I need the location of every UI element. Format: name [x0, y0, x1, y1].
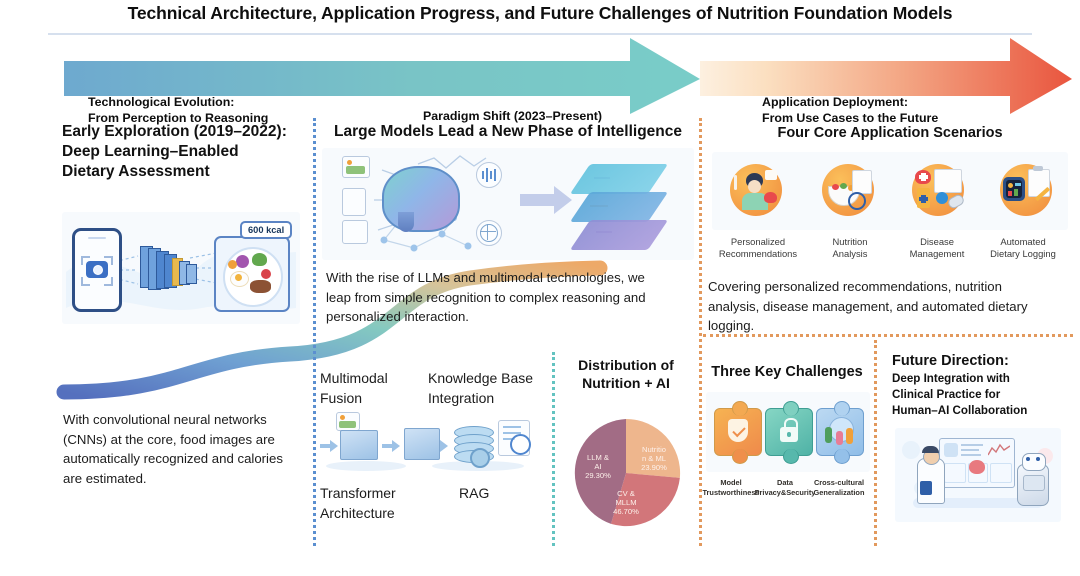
- pie-label-llm-ai: LLM & AI 29.30%: [576, 453, 620, 480]
- gear-icon: [470, 448, 490, 468]
- pie-label-nutrition-ml-l2: n & ML: [632, 454, 676, 463]
- scenario-label-4: Automated Dietary Logging: [977, 236, 1069, 260]
- challenges-heading: Three Key Challenges: [704, 363, 870, 381]
- scenario-label-2-line1: Nutrition: [804, 236, 896, 248]
- heart-icon: [969, 460, 985, 474]
- future-heading-line3: Human–AI Collaboration: [892, 403, 1072, 419]
- challenge-label-3: Cross-cultural Generalization: [796, 478, 882, 497]
- label-multimodal-fusion-line1: Multimodal: [320, 368, 425, 388]
- infographic-canvas: Technical Architecture, Application Prog…: [0, 0, 1080, 576]
- label-transformer-line1: Transformer: [320, 483, 435, 503]
- food-item-yolk: [235, 274, 242, 281]
- banner-right-label: Application Deployment: From Use Cases t…: [762, 94, 938, 126]
- page-title: Technical Architecture, Application Prog…: [0, 3, 1080, 24]
- scenario-label-3: Disease Management: [891, 236, 983, 260]
- food-plate-result-icon: [214, 236, 290, 312]
- fusion-cube-icon: [340, 430, 378, 460]
- image-input-icon: [342, 156, 370, 178]
- label-transformer-architecture: Transformer Architecture: [320, 483, 435, 523]
- challenge-label-3-line2: Generalization: [796, 488, 882, 498]
- scenarios-illustration: [712, 152, 1068, 230]
- left-heading: Early Exploration (2019–2022): Deep Lear…: [62, 122, 302, 182]
- scenario-icon-nutrition-analysis: [822, 164, 874, 216]
- middle-pipeline-illustration: [318, 410, 548, 478]
- food-item-eggplant: [236, 255, 249, 268]
- scenario-icon-automated-dietary-logging: [1000, 164, 1052, 216]
- label-transformer-line2: Architecture: [320, 503, 435, 523]
- focus-bracket-tr: [104, 256, 113, 265]
- middle-column-heading-wrap: Large Models Lead a New Phase of Intelli…: [322, 122, 694, 142]
- challenges-illustration: [706, 392, 870, 472]
- robot-figure: [1017, 464, 1049, 506]
- document-input-icon: [342, 188, 366, 216]
- pie-label-llm-ai-l2: AI: [576, 462, 620, 471]
- pie-label-llm-ai-pct: 29.30%: [576, 471, 620, 480]
- magnifier-icon: [510, 434, 531, 455]
- scenarios-body-text: Covering personalized recommendations, n…: [708, 277, 1050, 336]
- label-rag: RAG: [459, 483, 539, 503]
- focus-bracket-br: [104, 277, 113, 286]
- pie-label-nutrition-ml: Nutritio n & ML 23.90%: [632, 445, 676, 472]
- divider-orange-vertical-2: [874, 340, 877, 546]
- scenario-label-2-line2: Analysis: [804, 248, 896, 260]
- label-knowledge-base-integration: Knowledge Base Integration: [428, 368, 548, 408]
- left-column: Early Exploration (2019–2022): Deep Lear…: [62, 122, 302, 182]
- left-illustration: 600 kcal: [62, 212, 300, 324]
- puzzle-piece-model-trustworthiness: [714, 408, 762, 456]
- pie-chart: Nutritio n & ML 23.90% CV & MLLM 46.70% …: [568, 415, 684, 531]
- scenario-label-3-line1: Disease: [891, 236, 983, 248]
- scenario-icon-disease-management: [912, 164, 964, 216]
- puzzle-piece-data-privacy-security: [765, 408, 813, 456]
- scenario-label-1: Personalized Recommendations: [712, 236, 804, 260]
- scenario-label-1-line2: Recommendations: [712, 248, 804, 260]
- pie-label-cv-mllm: CV & MLLM 46.70%: [604, 489, 648, 516]
- pie-label-llm-ai-l1: LLM &: [576, 453, 620, 462]
- left-heading-line1: Early Exploration (2019–2022):: [62, 122, 302, 142]
- timeline-banner: Technological Evolution: From Perception…: [0, 36, 1080, 114]
- scenario-label-4-line1: Automated: [977, 236, 1069, 248]
- audio-waveform-icon: [476, 162, 502, 188]
- label-knowledge-base-line2: Integration: [428, 388, 548, 408]
- pie-label-cv-mllm-pct: 46.70%: [604, 507, 648, 516]
- focus-bracket-bl: [81, 277, 90, 286]
- food-item-steak: [250, 280, 271, 293]
- future-heading-line2: Clinical Practice for: [892, 387, 1072, 403]
- middle-heading: Large Models Lead a New Phase of Intelli…: [322, 122, 694, 142]
- label-multimodal-fusion-line2: Fusion: [320, 388, 425, 408]
- banner-right-line1: Application Deployment:: [762, 94, 938, 110]
- brain-icon: [382, 166, 460, 232]
- food-item-broccoli: [252, 253, 267, 266]
- middle-illustration: [322, 148, 694, 260]
- text-input-icon: [342, 220, 368, 244]
- pie-label-cv-mllm-l1: CV &: [604, 489, 648, 498]
- image-stack-icon: [336, 412, 360, 431]
- scenario-label-2: Nutrition Analysis: [804, 236, 896, 260]
- label-multimodal-fusion: Multimodal Fusion: [320, 368, 425, 408]
- title-divider-rule: [48, 33, 1032, 35]
- transformer-block-icon: [404, 428, 440, 460]
- chart-title: Distribution of Nutrition + AI: [558, 356, 694, 392]
- scenario-icon-personalized-recommendations: [730, 164, 782, 216]
- pie-label-nutrition-ml-l1: Nutritio: [632, 445, 676, 454]
- label-knowledge-base-line1: Knowledge Base: [428, 368, 548, 388]
- doctor-figure: [917, 458, 945, 504]
- divider-blue-vertical: [313, 118, 316, 546]
- middle-body-text: With the rise of LLMs and multimodal tec…: [326, 268, 646, 327]
- pie-label-nutrition-ml-pct: 23.90%: [632, 463, 676, 472]
- food-item-carrot: [228, 260, 237, 269]
- chart-title-line2: Nutrition + AI: [558, 374, 694, 392]
- food-item-tomato: [261, 269, 271, 279]
- scenario-label-3-line2: Management: [891, 248, 983, 260]
- divider-teal-vertical: [552, 352, 555, 546]
- challenge-label-3-line1: Cross-cultural: [796, 478, 882, 488]
- smartphone-icon: [72, 228, 122, 312]
- scenarios-heading: Four Core Application Scenarios: [706, 124, 1074, 142]
- focus-bracket-tl: [81, 256, 90, 265]
- future-direction-heading: Future Direction: Deep Integration with …: [892, 352, 1072, 419]
- future-heading-title: Future Direction:: [892, 352, 1072, 371]
- globe-icon: [476, 220, 502, 246]
- left-body-text: With convolutional neural networks (CNNs…: [63, 410, 299, 488]
- left-heading-line3: Dietary Assessment: [62, 162, 302, 182]
- future-heading-line1: Deep Integration with: [892, 371, 1072, 387]
- scenario-label-1-line1: Personalized: [712, 236, 804, 248]
- scenario-label-4-line2: Dietary Logging: [977, 248, 1069, 260]
- kcal-badge: 600 kcal: [240, 221, 292, 239]
- chart-title-line1: Distribution of: [558, 356, 694, 374]
- future-direction-illustration: [895, 428, 1061, 522]
- puzzle-piece-cross-cultural-generalization: [816, 408, 864, 456]
- pie-label-cv-mllm-l2: MLLM: [604, 498, 648, 507]
- banner-left-line1: Technological Evolution:: [88, 94, 268, 110]
- left-heading-line2: Deep Learning–Enabled: [62, 142, 302, 162]
